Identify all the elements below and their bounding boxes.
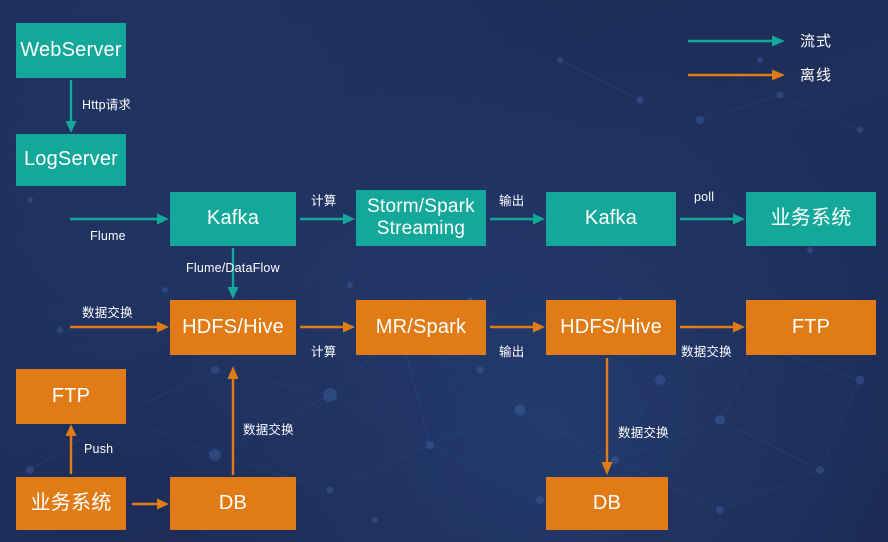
node-log-server[interactable]: LogServer: [16, 134, 126, 186]
edge-label-compute-stream: 计算: [311, 190, 336, 209]
node-business-system-top[interactable]: 业务系统: [746, 192, 876, 246]
node-hdfs-hive-right-label: HDFS/Hive: [546, 316, 676, 340]
edge-label-data-exchange-db-right: 数据交换: [618, 422, 669, 441]
node-business-system-top-label: 业务系统: [746, 207, 876, 231]
edge-label-data-exchange-in: 数据交换: [82, 302, 133, 321]
node-db-left-label: DB: [170, 492, 296, 516]
node-db-left[interactable]: DB: [170, 477, 296, 530]
node-db-right[interactable]: DB: [546, 477, 668, 530]
edge-label-poll: poll: [694, 190, 714, 204]
node-mr-spark-label: MR/Spark: [356, 316, 486, 340]
edge-label-data-exchange-out: 数据交换: [681, 341, 732, 360]
edge-label-http-request: Http请求: [82, 94, 131, 113]
node-ftp-right-label: FTP: [746, 316, 876, 340]
node-kafka-in-label: Kafka: [170, 207, 296, 231]
node-storm-spark-line1: Storm/Spark: [367, 196, 475, 217]
node-kafka-out[interactable]: Kafka: [546, 192, 676, 246]
node-storm-spark-streaming[interactable]: Storm/Spark Streaming: [356, 190, 486, 246]
arrow-layer: [0, 0, 888, 542]
node-business-system-bottom-label: 业务系统: [16, 492, 126, 516]
diagram-canvas: 流式 离线: [0, 0, 888, 542]
node-business-system-bottom[interactable]: 业务系统: [16, 477, 126, 530]
node-hdfs-hive-right[interactable]: HDFS/Hive: [546, 300, 676, 355]
edge-label-compute-offline: 计算: [311, 341, 336, 360]
node-hdfs-hive-left[interactable]: HDFS/Hive: [170, 300, 296, 355]
node-db-right-label: DB: [546, 492, 668, 516]
node-web-server-label: WebServer: [16, 39, 126, 63]
node-web-server[interactable]: WebServer: [16, 23, 126, 78]
edge-label-output-stream: 输出: [499, 190, 524, 209]
edge-label-output-offline: 输出: [499, 341, 524, 360]
node-ftp-left[interactable]: FTP: [16, 369, 126, 424]
node-ftp-left-label: FTP: [16, 385, 126, 409]
node-storm-spark-line2: Streaming: [377, 218, 465, 239]
node-ftp-right[interactable]: FTP: [746, 300, 876, 355]
node-kafka-in[interactable]: Kafka: [170, 192, 296, 246]
edge-label-push: Push: [84, 442, 113, 456]
edge-label-data-exchange-db-left: 数据交换: [243, 419, 294, 438]
node-log-server-label: LogServer: [16, 148, 126, 172]
edge-label-flume: Flume: [90, 229, 126, 243]
node-hdfs-hive-left-label: HDFS/Hive: [170, 316, 296, 340]
edge-label-flume-dataflow: Flume/DataFlow: [186, 261, 280, 275]
node-kafka-out-label: Kafka: [546, 207, 676, 231]
node-mr-spark[interactable]: MR/Spark: [356, 300, 486, 355]
